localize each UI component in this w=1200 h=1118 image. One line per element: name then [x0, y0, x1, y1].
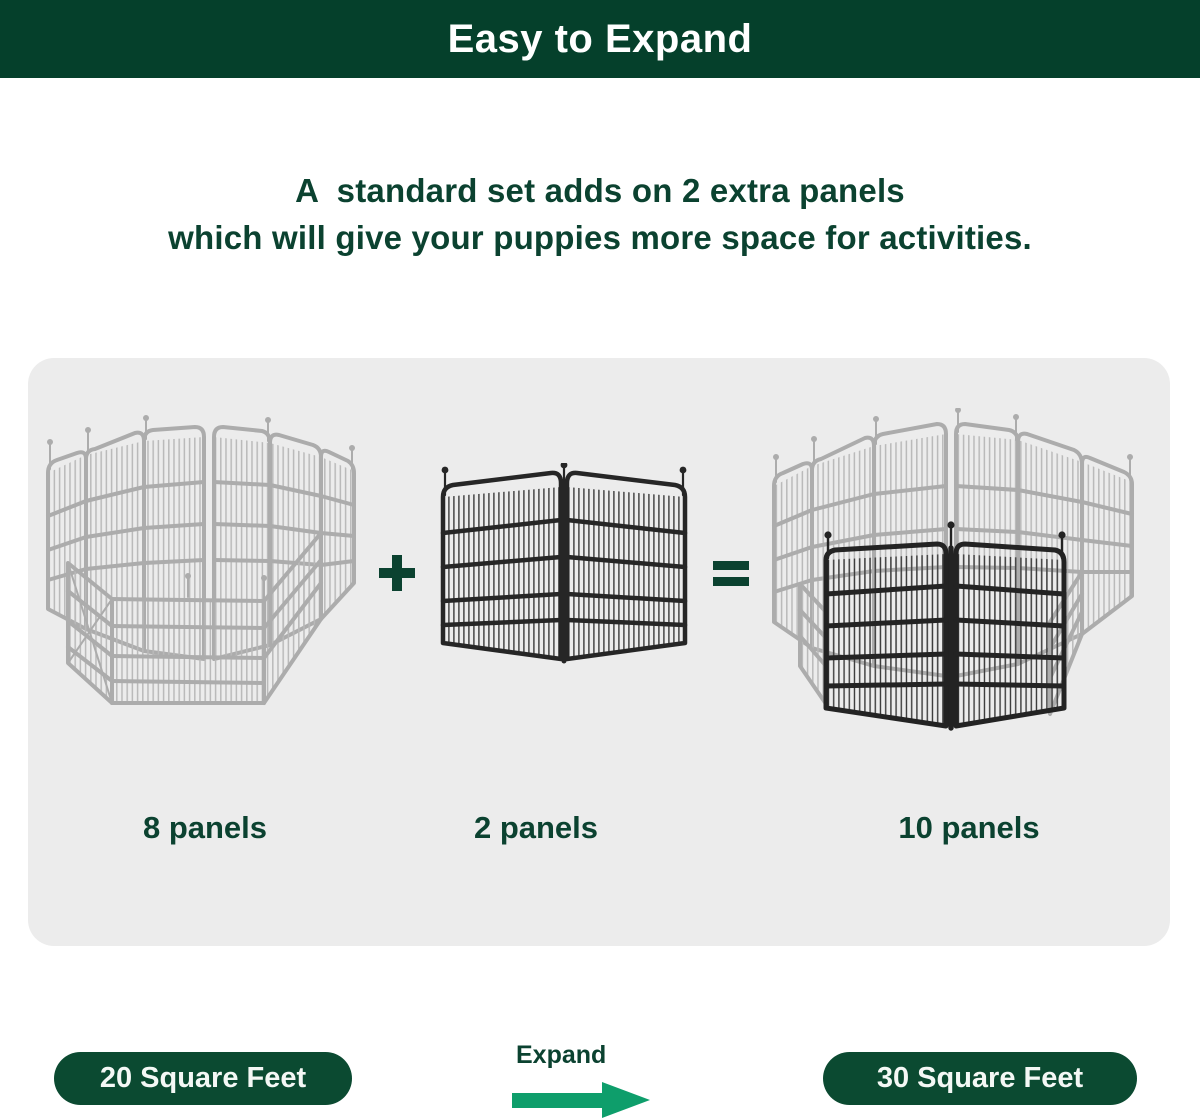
playpen-8-panels-icon — [38, 413, 368, 733]
label-8-panels: 8 panels — [70, 810, 340, 846]
area-badge-after: 30 Square Feet — [823, 1052, 1137, 1105]
page-title: Easy to Expand — [448, 19, 753, 59]
expand-indicator: Expand — [512, 1043, 672, 1118]
intro-line-2: which will give your puppies more space … — [0, 215, 1200, 262]
expand-label: Expand — [516, 1043, 606, 1068]
label-2-panels: 2 panels — [430, 810, 642, 846]
playpen-10-panels-icon — [760, 408, 1152, 738]
equals-icon — [711, 558, 751, 588]
arrow-right-icon — [512, 1080, 652, 1118]
playpen-2-panels-icon — [433, 463, 695, 683]
equals-symbol-wrapper — [703, 558, 759, 588]
playpen-10-panels — [760, 408, 1152, 738]
playpen-8-panels — [38, 408, 368, 738]
plus-icon — [377, 553, 417, 593]
equation-row — [28, 358, 1170, 788]
infographic-page: Easy to Expand A standard set adds on 2 … — [0, 0, 1200, 1118]
header-bar: Easy to Expand — [0, 0, 1200, 78]
intro-text: A standard set adds on 2 extra panels wh… — [0, 168, 1200, 262]
panel-count-labels: 8 panels 2 panels 10 panels — [28, 810, 1170, 870]
intro-line-1: A standard set adds on 2 extra panels — [0, 168, 1200, 215]
area-badge-before: 20 Square Feet — [54, 1052, 352, 1105]
label-10-panels: 10 panels — [788, 810, 1150, 846]
playpen-2-panels — [427, 408, 702, 738]
illustration-card: 8 panels 2 panels 10 panels — [28, 358, 1170, 946]
plus-symbol-wrapper — [369, 553, 425, 593]
